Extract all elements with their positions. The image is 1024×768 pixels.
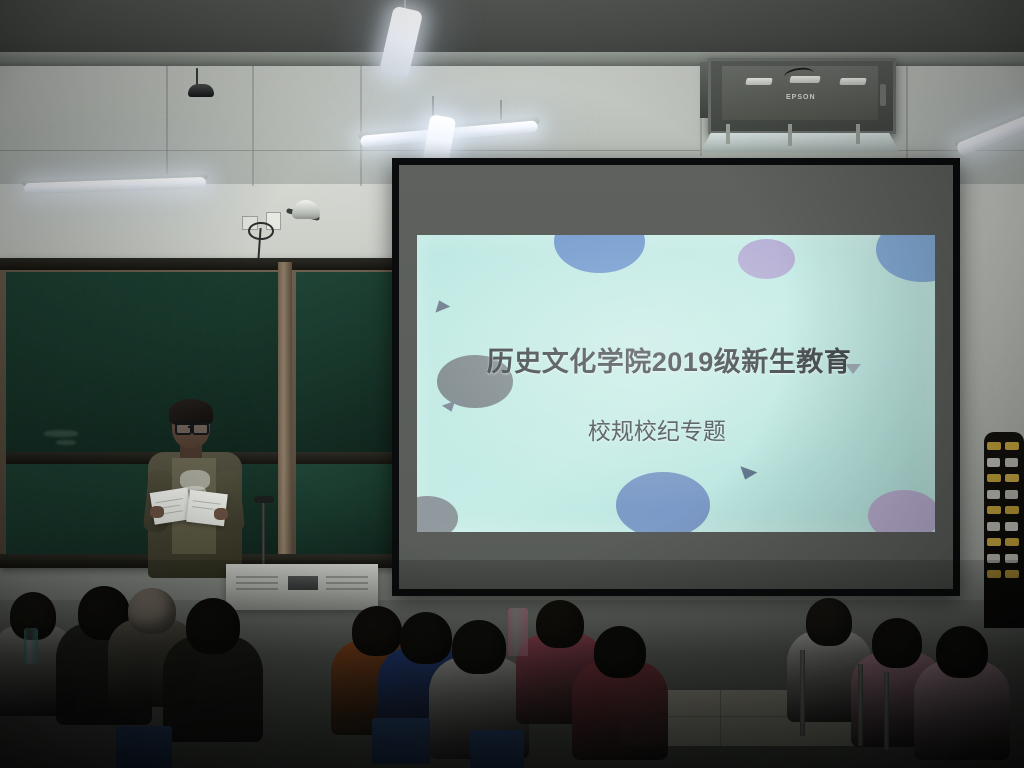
projector-mount-rod — [856, 124, 860, 144]
student-red-jacket — [594, 626, 646, 678]
student-pink-right-1 — [872, 618, 922, 668]
student-white-right-1 — [806, 598, 852, 646]
wall-panel-seam — [166, 66, 168, 186]
chalk-mark — [44, 430, 78, 437]
screen-surface: 历史文化学院2019级新生教育 校规校纪专题 — [399, 165, 953, 589]
cable-loop — [248, 222, 274, 240]
wall-rack — [984, 432, 1024, 628]
chalkboard-divider-post — [278, 262, 292, 562]
student-pink-top — [536, 600, 584, 648]
triangle-lower-left — [442, 401, 458, 414]
pink-thermos — [508, 608, 528, 656]
triangle-bottom-mid — [737, 467, 758, 483]
security-camera-black-icon — [188, 84, 214, 97]
projector-vent — [745, 78, 772, 85]
projector-mount-plate — [700, 133, 899, 153]
gray-circle-bottomleft — [417, 496, 458, 532]
purple-circle-bottomright — [868, 490, 935, 532]
chalkboard-panel-left-upper — [6, 272, 278, 452]
student-beige-cap — [128, 588, 176, 634]
projector-brand-label: EPSON — [786, 94, 816, 101]
chair-back — [116, 726, 172, 768]
blue-circle-bottom — [616, 472, 709, 531]
lectern — [226, 564, 378, 610]
presentation-slide: 历史文化学院2019级新生教育 校规校纪专题 — [417, 235, 936, 532]
projection-screen: 历史文化学院2019级新生教育 校规校纪专题 — [392, 158, 960, 596]
presenter-glasses-left — [175, 423, 192, 435]
slide-title: 历史文化学院2019级新生教育 — [487, 340, 852, 379]
presenter-glasses-bridge — [188, 426, 192, 428]
teal-water-bottle — [24, 628, 38, 664]
chalkboard-top-rail — [0, 258, 398, 270]
microphone-stand — [262, 500, 265, 566]
student-pink-right-2 — [936, 626, 988, 678]
purple-circle-topright — [738, 239, 795, 279]
wall-panel-seam — [360, 66, 362, 186]
projector-mount-rod — [788, 124, 792, 146]
chair-back — [470, 730, 524, 768]
triangle-upper-left — [432, 298, 451, 313]
projector-vent — [839, 78, 866, 85]
projector-cage-hinge — [700, 62, 708, 118]
chalkboard-panel-right-upper — [296, 272, 392, 452]
blue-circle-farright — [876, 235, 936, 283]
student-orange-top — [352, 606, 402, 656]
presenter-hair — [169, 399, 213, 425]
floor-tile-line — [720, 690, 721, 746]
student-blue-jacket — [400, 612, 452, 664]
chalkboard-mid-rail — [296, 452, 392, 464]
blue-circle-top — [554, 235, 645, 273]
projector-mount-rod — [726, 124, 730, 144]
projector-cage-latch — [880, 84, 886, 106]
chair-leg — [800, 650, 805, 736]
chalkboard-panel-right-lower — [296, 464, 392, 556]
presenter-hand-right — [214, 508, 228, 520]
classroom-scene: EPSON 历史文化学院2019级新生教育 校规校纪专题 — [0, 0, 1024, 768]
chair-leg — [884, 672, 889, 750]
chalk-mark — [56, 440, 76, 445]
slide-subtitle: 校规校纪专题 — [588, 412, 726, 446]
presenter-hand-left — [150, 506, 164, 518]
student-white-shirt-c — [452, 620, 506, 674]
wall-panel-seam — [252, 66, 254, 186]
chair-back — [372, 718, 430, 764]
student-long-hair-1 — [186, 598, 240, 654]
presenter-glasses-right — [192, 423, 209, 435]
microphone-head — [254, 496, 274, 503]
chair-leg — [858, 664, 863, 746]
